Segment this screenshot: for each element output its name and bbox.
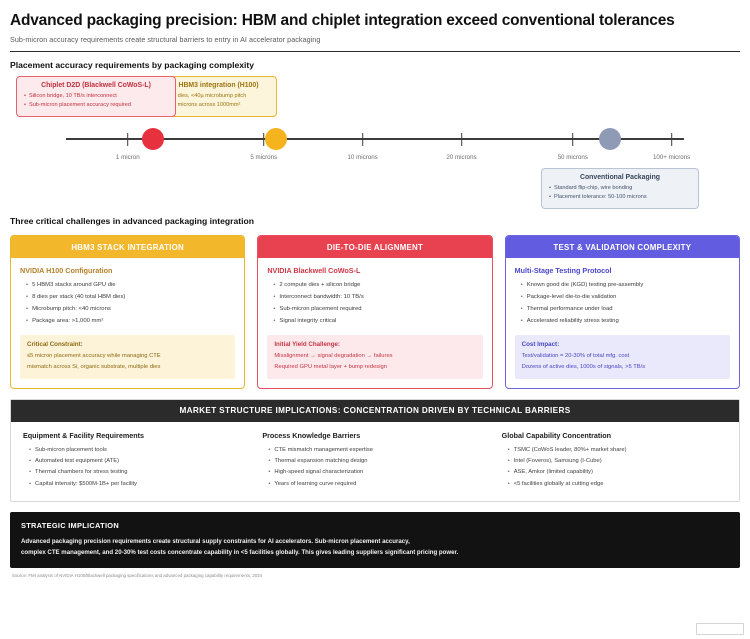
timeline-tick (127, 133, 129, 146)
challenge-card-header: DIE-TO-DIE ALIGNMENT (258, 236, 491, 258)
market-bullet: Capital intensity: $500M-1B+ per facilit… (29, 479, 248, 490)
market-bullet: <5 facilities globally at cutting edge (508, 479, 727, 490)
market-bullet: ASE, Amkor (limited capability) (508, 467, 727, 478)
challenge-bullet: Interconnect bandwidth: 10 TB/s (273, 292, 482, 304)
conventional-packaging-marker[interactable] (599, 128, 621, 150)
timeline-callout-conventional-packaging[interactable]: Conventional PackagingStandard flip-chip… (541, 168, 699, 208)
challenge-bullet: Package area: >1,000 mm² (26, 316, 235, 328)
challenges-heading: Three critical challenges in advanced pa… (10, 216, 742, 226)
page-subtitle: Sub-micron accuracy requirements create … (10, 35, 742, 44)
market-column-equipment-facility-requirements: Equipment & Facility RequirementsSub-mic… (23, 431, 248, 490)
market-structure-columns: Equipment & Facility RequirementsSub-mic… (11, 422, 739, 501)
callout-bullet: Standard flip-chip, wire bonding (549, 184, 691, 193)
market-column-process-knowledge-barriers: Process Knowledge BarriersCTE mismatch m… (262, 431, 487, 490)
market-bullet: Intel (Foveros), Samsung (I-Cube) (508, 456, 727, 467)
challenge-card-list: HBM3 STACK INTEGRATIONNVIDIA H100 Config… (8, 235, 742, 389)
strategic-implication-title: STRATEGIC IMPLICATION (21, 521, 729, 530)
timeline-tick (572, 133, 574, 146)
market-bullet: Years of learning curve required (268, 479, 487, 490)
market-bullet-list: TSMC (CoWoS leader, 80%+ market share)In… (502, 445, 727, 490)
callout-bullet-list: Silicon bridge, 10 TB/s interconnectSub-… (24, 92, 168, 109)
timeline-tick-label: 10 microns (347, 154, 377, 161)
challenge-card-header: HBM3 STACK INTEGRATION (11, 236, 244, 258)
challenge-card-body: NVIDIA H100 Configuration5 HBM3 stacks a… (11, 258, 244, 388)
chiplet-d2d-marker[interactable] (142, 128, 164, 150)
challenge-card-note: Initial Yield Challenge:Misalignment → s… (267, 335, 482, 378)
challenge-note-line: mismatch across Si, organic substrate, m… (27, 362, 228, 372)
callout-bullet-list: Standard flip-chip, wire bondingPlacemen… (549, 184, 691, 201)
timeline-callout-hbm3-integration[interactable]: HBM3 integration (H100)6 dies, <40µ micr… (160, 76, 277, 116)
challenge-card-note: Critical Constraint:≤5 micron placement … (20, 335, 235, 378)
challenge-card-header: TEST & VALIDATION COMPLEXITY (506, 236, 739, 258)
challenge-note-line: Test/validation = 20-30% of total mfg. c… (522, 351, 723, 361)
challenge-card-body: NVIDIA Blackwell CoWoS-L2 compute dies +… (258, 258, 491, 388)
timeline-callout-chiplet-d2d[interactable]: Chiplet D2D (Blackwell CoWoS-L)Silicon b… (16, 76, 176, 116)
source-note: Source: FMI analysis of NVIDIA H100/Blac… (12, 573, 742, 578)
timeline-tick-label: 100+ microns (653, 154, 690, 161)
market-bullet-list: CTE mismatch management expertiseThermal… (262, 445, 487, 490)
challenge-bullet: Known good die (KGD) testing pre-assembl… (521, 280, 730, 292)
challenge-note-title: Critical Constraint: (27, 341, 228, 348)
challenge-bullet: Sub-micron placement required (273, 304, 482, 316)
strategic-implication-line: complex CTE management, and 20-30% test … (21, 547, 729, 558)
callout-bullet: Silicon bridge, 10 TB/s interconnect (24, 92, 168, 101)
hbm3-integration-marker[interactable] (265, 128, 287, 150)
callout-bullet: 5 microns across 1000mm² (168, 101, 269, 110)
market-column-title: Equipment & Facility Requirements (23, 431, 248, 440)
callout-title: Chiplet D2D (Blackwell CoWoS-L) (24, 82, 168, 89)
market-column-title: Global Capability Concentration (502, 431, 727, 440)
infographic-page: Advanced packaging precision: HBM and ch… (0, 0, 750, 639)
challenge-bullet: Accelerated reliability stress testing (521, 316, 730, 328)
strategic-implication-line: Advanced packaging precision requirement… (21, 536, 729, 547)
challenge-bullet: 5 HBM3 stacks around GPU die (26, 280, 235, 292)
timeline-axis: 1 micron5 microns10 microns20 microns50 … (66, 138, 684, 140)
challenge-bullet-list: 2 compute dies + silicon bridgeInterconn… (267, 280, 482, 327)
callout-title: HBM3 integration (H100) (168, 82, 269, 89)
challenge-card-subtitle: NVIDIA Blackwell CoWoS-L (267, 266, 482, 275)
challenge-card-die-to-die-alignment[interactable]: DIE-TO-DIE ALIGNMENTNVIDIA Blackwell CoW… (257, 235, 492, 389)
callout-bullet-list: 6 dies, <40µ microbump pitch5 microns ac… (168, 92, 269, 109)
challenge-card-note: Cost Impact:Test/validation = 20-30% of … (515, 335, 730, 378)
challenge-note-title: Initial Yield Challenge: (274, 341, 475, 348)
market-bullet: Thermal expansion matching design (268, 456, 487, 467)
header-divider (10, 51, 740, 52)
timeline-tick-label: 5 microns (250, 154, 277, 161)
challenge-card-hbm3-stack-integration[interactable]: HBM3 STACK INTEGRATIONNVIDIA H100 Config… (10, 235, 245, 389)
callout-title: Conventional Packaging (549, 174, 691, 181)
challenge-bullet: Signal integrity critical (273, 316, 482, 328)
market-bullet: High-speed signal characterization (268, 467, 487, 478)
callout-bullet: 6 dies, <40µ microbump pitch (168, 92, 269, 101)
timeline-tick-label: 20 microns (446, 154, 476, 161)
challenge-card-body: Multi-Stage Testing ProtocolKnown good d… (506, 258, 739, 388)
market-bullet-list: Sub-micron placement toolsAutomated test… (23, 445, 248, 490)
timeline-chart: 1 micron5 microns10 microns20 microns50 … (8, 76, 742, 208)
challenge-card-subtitle: NVIDIA H100 Configuration (20, 266, 235, 275)
challenge-bullet-list: 5 HBM3 stacks around GPU die8 dies per s… (20, 280, 235, 327)
challenge-bullet: Package-level die-to-die validation (521, 292, 730, 304)
callout-bullet: Sub-micron placement accuracy required (24, 101, 168, 110)
market-column-title: Process Knowledge Barriers (262, 431, 487, 440)
timeline-tick-label: 50 microns (558, 154, 588, 161)
challenge-note-line: Required GPU metal layer + bump redesign (274, 362, 475, 372)
challenge-card-subtitle: Multi-Stage Testing Protocol (515, 266, 730, 275)
timeline-tick (362, 133, 364, 146)
challenge-note-title: Cost Impact: (522, 341, 723, 348)
market-structure-panel: MARKET STRUCTURE IMPLICATIONS: CONCENTRA… (10, 399, 740, 502)
page-title: Advanced packaging precision: HBM and ch… (10, 12, 742, 30)
timeline-tick (461, 133, 463, 146)
challenge-bullet: Thermal performance under load (521, 304, 730, 316)
market-structure-header: MARKET STRUCTURE IMPLICATIONS: CONCENTRA… (11, 400, 739, 422)
challenge-note-line: Dozens of active dies, 1000s of signals,… (522, 362, 723, 372)
challenge-bullet: 8 dies per stack (40 total HBM dies) (26, 292, 235, 304)
corner-mark (696, 623, 744, 635)
challenge-note-line: Misalignment → signal degradation → fail… (274, 351, 475, 361)
strategic-implication-body: Advanced packaging precision requirement… (21, 536, 729, 559)
timeline-tick (671, 133, 673, 146)
challenge-bullet: Microbump pitch: <40 microns (26, 304, 235, 316)
market-bullet: Thermal chambers for stress testing (29, 467, 248, 478)
strategic-implication-panel: STRATEGIC IMPLICATION Advanced packaging… (10, 512, 740, 569)
market-bullet: Automated test equipment (ATE) (29, 456, 248, 467)
callout-bullet: Placement tolerance: 50-100 microns (549, 193, 691, 202)
market-column-global-capability-concentration: Global Capability ConcentrationTSMC (CoW… (502, 431, 727, 490)
market-bullet: Sub-micron placement tools (29, 445, 248, 456)
timeline-heading: Placement accuracy requirements by packa… (10, 60, 742, 70)
challenge-bullet-list: Known good die (KGD) testing pre-assembl… (515, 280, 730, 327)
timeline-tick-label: 1 micron (116, 154, 140, 161)
market-bullet: TSMC (CoWoS leader, 80%+ market share) (508, 445, 727, 456)
challenge-note-line: ≤5 micron placement accuracy while manag… (27, 351, 228, 361)
challenge-card-test-validation-complexity[interactable]: TEST & VALIDATION COMPLEXITYMulti-Stage … (505, 235, 740, 389)
challenge-bullet: 2 compute dies + silicon bridge (273, 280, 482, 292)
market-bullet: CTE mismatch management expertise (268, 445, 487, 456)
